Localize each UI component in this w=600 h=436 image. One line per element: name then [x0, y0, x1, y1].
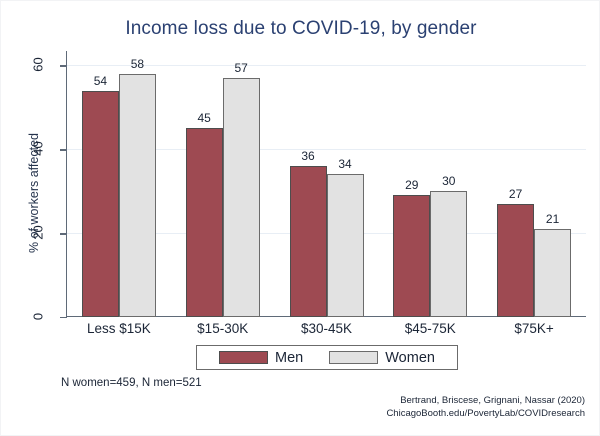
legend-swatch-men-icon	[219, 351, 268, 364]
y-tick-mark	[60, 233, 67, 234]
bar-women-2[interactable]	[327, 174, 364, 317]
bar-women-0[interactable]	[119, 74, 156, 317]
x-category-label: $30-45K	[275, 321, 379, 336]
y-tick-mark	[60, 317, 67, 318]
y-axis-title: % of workers affected	[27, 98, 41, 288]
bar-value-label: 54	[82, 74, 119, 88]
bar-value-label: 58	[119, 57, 156, 71]
bar-men-1[interactable]	[186, 128, 223, 317]
bar-value-label: 29	[393, 178, 430, 192]
bar-men-4[interactable]	[497, 204, 534, 317]
x-category-label: Less $15K	[67, 321, 171, 336]
y-tick-label: 40	[31, 134, 46, 164]
bar-women-1[interactable]	[223, 78, 260, 317]
x-category-label: $45-75K	[378, 321, 482, 336]
sample-size-note: N women=459, N men=521	[61, 377, 202, 389]
y-tick-label: 20	[31, 218, 46, 248]
bar-value-label: 30	[430, 174, 467, 188]
legend-swatch-women-icon	[329, 351, 378, 364]
bar-men-2[interactable]	[290, 166, 327, 317]
chart-figure: Income loss due to COVID-19, by gender %…	[0, 0, 600, 436]
y-tick-mark	[60, 149, 67, 150]
bar-women-4[interactable]	[534, 229, 571, 317]
citation-block: Bertrand, Briscese, Grignani, Nassar (20…	[386, 394, 585, 420]
chart-legend: Men Women	[196, 345, 458, 370]
bar-value-label: 27	[497, 187, 534, 201]
citation-authors: Bertrand, Briscese, Grignani, Nassar (20…	[386, 394, 585, 407]
legend-item-men[interactable]: Men	[219, 350, 303, 366]
x-category-label: $15-30K	[171, 321, 275, 336]
y-tick-label: 60	[31, 50, 46, 80]
bar-men-0[interactable]	[82, 91, 119, 317]
bar-value-label: 34	[327, 157, 364, 171]
legend-item-women[interactable]: Women	[329, 350, 435, 366]
bar-value-label: 21	[534, 212, 571, 226]
y-tick-mark	[60, 65, 67, 66]
bar-value-label: 45	[186, 111, 223, 125]
bar-value-label: 36	[290, 149, 327, 163]
legend-label-men: Men	[275, 350, 303, 366]
x-category-label: $75K+	[482, 321, 586, 336]
bar-men-3[interactable]	[393, 195, 430, 317]
chart-title: Income loss due to COVID-19, by gender	[1, 18, 600, 40]
citation-url: ChicagoBooth.edu/PovertyLab/COVIDresearc…	[386, 407, 585, 420]
bar-value-label: 57	[223, 61, 260, 75]
legend-label-women: Women	[385, 350, 435, 366]
bar-women-3[interactable]	[430, 191, 467, 317]
y-tick-label: 0	[31, 302, 46, 332]
